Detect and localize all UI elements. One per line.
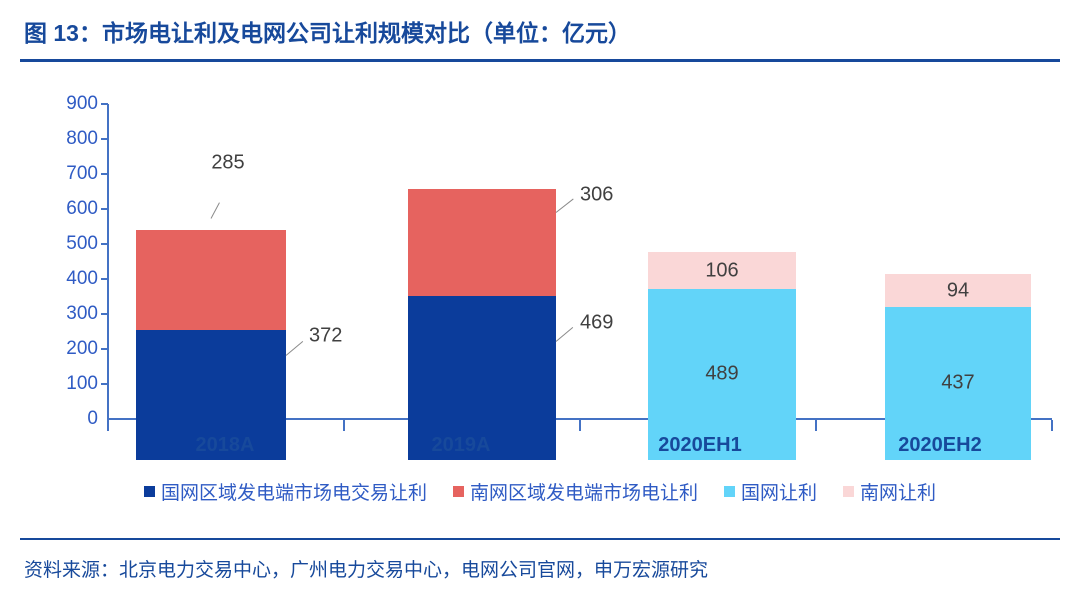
value-label-2018a-guowang-market: 372 [309, 325, 342, 348]
chart-figure: 图 13：市场电让利及电网公司让利规模对比（单位：亿元） 900 800 700… [0, 0, 1080, 606]
value-label-2020eh2-nanwang-rangli: 94 [885, 280, 1031, 303]
y-tick-mark-900 [101, 103, 108, 105]
value-label-2019a-nanwang-market: 306 [580, 184, 613, 207]
y-tick-mark-400 [101, 278, 108, 280]
chart-legend: 国网区域发电端市场电交易让利 南网区域发电端市场电让利 国网让利 南网让利 [0, 478, 1080, 505]
legend-item-guowang-rangli[interactable]: 国网让利 [724, 478, 817, 505]
legend-item-nanwang-rangli[interactable]: 南网让利 [843, 478, 936, 505]
y-tick-800: 800 [34, 128, 98, 150]
legend-label-nanwang-rangli: 南网让利 [860, 478, 936, 505]
y-tick-300: 300 [34, 303, 98, 325]
y-tick-mark-800 [101, 138, 108, 140]
x-tick-mark-4 [1051, 420, 1053, 431]
y-axis-labels: 900 800 700 600 500 400 300 200 100 0 [34, 70, 98, 460]
y-tick-mark-500 [101, 243, 108, 245]
legend-swatch-icon-guowang-rangli [724, 486, 735, 497]
legend-swatch-icon-nanwang-market [453, 486, 464, 497]
figure-title: 图 13：市场电让利及电网公司让利规模对比（单位：亿元） [24, 14, 1054, 48]
value-label-2020eh1-nanwang-rangli: 106 [648, 260, 796, 283]
bar-segment-nanwang-market-2018a[interactable] [136, 230, 286, 330]
y-tick-mark-600 [101, 208, 108, 210]
x-category-2020eh1: 2020EH1 [658, 434, 741, 457]
plot-area: 900 800 700 600 500 400 300 200 100 0 [0, 70, 1080, 460]
y-tick-500: 500 [34, 233, 98, 255]
value-label-2019a-guowang-market: 469 [580, 312, 613, 335]
y-tick-900: 900 [34, 93, 98, 115]
y-tick-mark-300 [101, 313, 108, 315]
legend-label-guowang-market: 国网区域发电端市场电交易让利 [161, 478, 427, 505]
leader-line-2019a-blue [556, 327, 573, 342]
value-label-2020eh1-guowang-rangli: 489 [648, 363, 796, 386]
legend-swatch-icon-nanwang-rangli [843, 486, 854, 497]
y-tick-200: 200 [34, 338, 98, 360]
bar-segment-nanwang-rangli-2020eh2[interactable]: 94 [885, 274, 1031, 307]
y-tick-0: 0 [34, 408, 98, 430]
legend-item-guowang-market[interactable]: 国网区域发电端市场电交易让利 [144, 478, 427, 505]
leader-line-2019a-red [556, 199, 574, 213]
source-divider [20, 538, 1060, 540]
x-tick-mark-2 [579, 420, 581, 431]
x-tick-mark-3 [815, 420, 817, 431]
bar-column-2019a[interactable] [408, 112, 556, 460]
legend-label-guowang-rangli: 国网让利 [741, 478, 817, 505]
bar-column-2020eh1[interactable]: 489 106 [648, 112, 796, 460]
y-tick-700: 700 [34, 163, 98, 185]
x-category-2019a: 2019A [432, 434, 491, 457]
y-tick-mark-200 [101, 348, 108, 350]
legend-swatch-icon-guowang-market [144, 486, 155, 497]
x-tick-mark-1 [343, 420, 345, 431]
bar-segment-nanwang-rangli-2020eh1[interactable]: 106 [648, 252, 796, 289]
legend-label-nanwang-market: 南网区域发电端市场电让利 [470, 478, 698, 505]
leader-line-2018a-blue [286, 341, 303, 356]
x-category-2018a: 2018A [196, 434, 255, 457]
y-tick-400: 400 [34, 268, 98, 290]
x-tick-mark-0 [107, 420, 109, 431]
y-tick-600: 600 [34, 198, 98, 220]
y-tick-mark-100 [101, 383, 108, 385]
legend-item-nanwang-market[interactable]: 南网区域发电端市场电让利 [453, 478, 698, 505]
x-category-2020eh2: 2020EH2 [898, 434, 981, 457]
bar-column-2020eh2[interactable]: 437 94 [885, 112, 1031, 460]
y-tick-100: 100 [34, 373, 98, 395]
y-axis-line [107, 104, 109, 419]
title-divider [20, 59, 1060, 62]
source-note: 资料来源：北京电力交易中心，广州电力交易中心，电网公司官网，申万宏源研究 [24, 555, 708, 582]
y-tick-mark-700 [101, 173, 108, 175]
bar-segment-nanwang-market-2019a[interactable] [408, 189, 556, 296]
value-label-2018a-nanwang-market: 285 [211, 152, 244, 175]
value-label-2020eh2-guowang-rangli: 437 [885, 372, 1031, 395]
